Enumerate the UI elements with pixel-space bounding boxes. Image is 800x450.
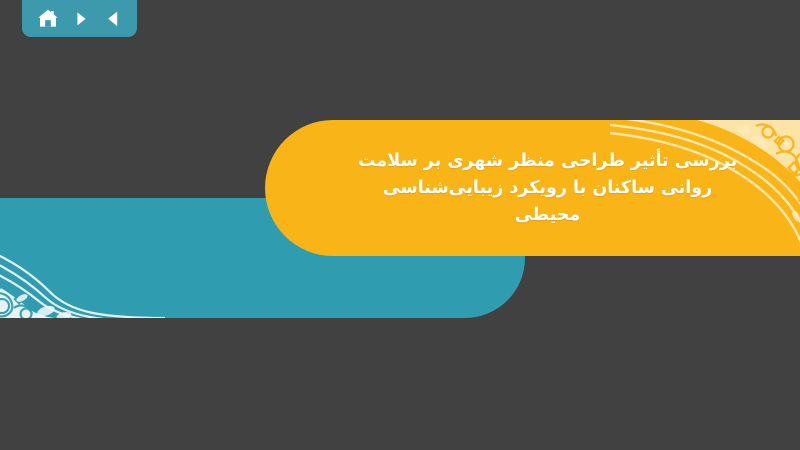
next-slide-button[interactable]: [68, 6, 94, 32]
title-plate: بررسی تأثیر طراحی منظر شهری بر سلامت روا…: [265, 120, 800, 256]
triangle-left-icon: [103, 9, 123, 29]
title-line-2: روانی ساکنان با رویکرد زیبایی‌شناسی: [383, 175, 712, 202]
title-line-1: بررسی تأثیر طراحی منظر شهری بر سلامت: [358, 148, 737, 175]
slide-title: بررسی تأثیر طراحی منظر شهری بر سلامت روا…: [265, 120, 800, 256]
home-icon: [37, 8, 59, 30]
presentation-slide: بررسی تأثیر طراحی منظر شهری بر سلامت روا…: [0, 0, 800, 450]
persian-arabesque-ornament-teal: [0, 198, 170, 318]
home-button[interactable]: [35, 6, 61, 32]
slide-navigation-bar: [22, 0, 137, 37]
previous-slide-button[interactable]: [100, 6, 126, 32]
triangle-right-icon: [71, 9, 91, 29]
title-line-3: محیطی: [515, 202, 580, 229]
